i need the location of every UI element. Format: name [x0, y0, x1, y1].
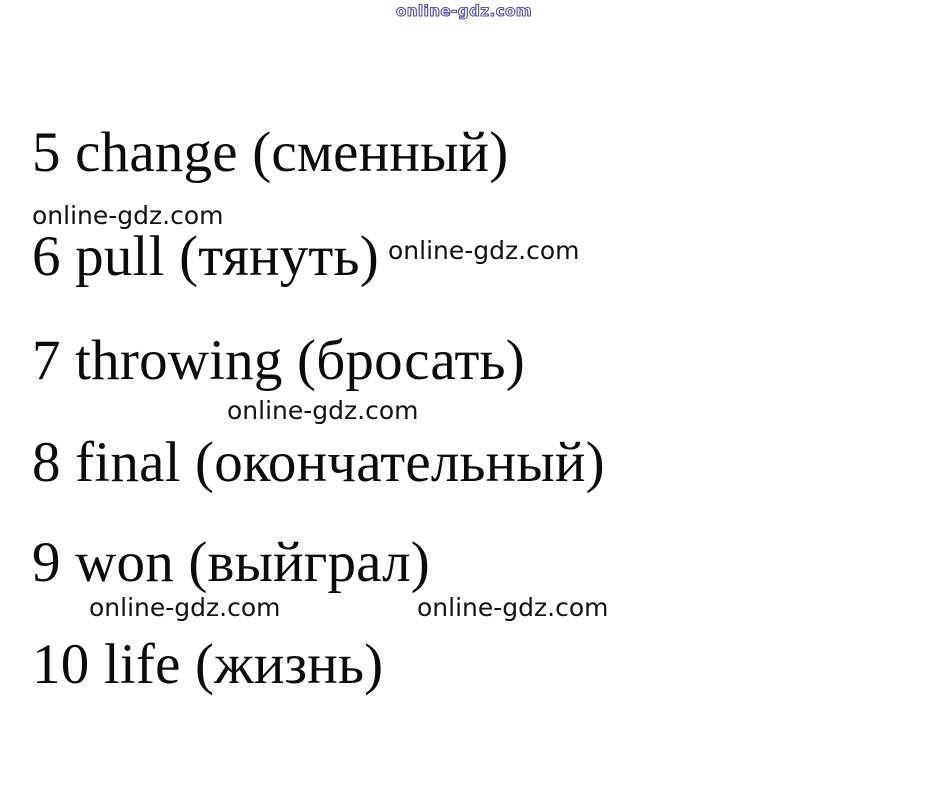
site-watermark-top: online-gdz.com — [396, 2, 532, 20]
site-watermark-3: online-gdz.com — [227, 398, 418, 423]
site-watermark-2: online-gdz.com — [388, 238, 579, 263]
site-watermark-5: online-gdz.com — [417, 595, 608, 620]
answer-line-9: 9 won (выйграл) — [32, 534, 430, 591]
answer-line-5: 5 change (сменный) — [32, 124, 508, 181]
answer-line-7: 7 throwing (бросать) — [32, 332, 525, 389]
answer-line-10: 10 life (жизнь) — [32, 636, 383, 693]
document-page: online-gdz.com 5 change (сменный) online… — [0, 0, 935, 791]
answer-line-8: 8 final (окончательный) — [32, 434, 605, 491]
answer-line-6: 6 pull (тянуть) — [32, 228, 379, 285]
site-watermark-4: online-gdz.com — [89, 595, 280, 620]
